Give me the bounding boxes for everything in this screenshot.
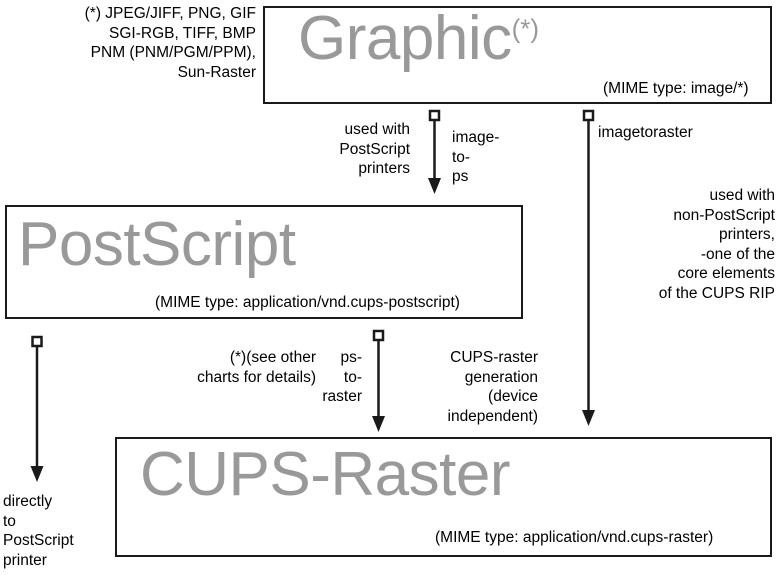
filter-label-pstoraster: ps- to- raster	[300, 348, 362, 407]
edge-note-non-postscript-printers: used with non-PostScript printers, -one …	[598, 186, 775, 303]
diagram-canvas: (*) JPEG/JIFF, PNG, GIF SGI-RGB, TIFF, B…	[0, 0, 780, 575]
graphic-box-title: Graphic(*)	[298, 8, 539, 70]
cups-raster-title-text: CUPS-Raster	[140, 440, 510, 509]
graphic-box-mime: (MIME type: image/*)	[603, 80, 749, 98]
edge-note-cups-raster-generation: CUPS-raster generation (device independe…	[398, 348, 538, 426]
arrow-graphic-to-postscript	[424, 110, 448, 196]
filter-label-imagetops: image- to- ps	[452, 128, 532, 187]
edge-note-directly-to-postscript-printer: directly to PostScript printer	[3, 492, 103, 570]
cups-raster-box-title: CUPS-Raster	[140, 444, 510, 506]
postscript-title-text: PostScript	[18, 210, 296, 279]
graphic-formats-legend: (*) JPEG/JIFF, PNG, GIF SGI-RGB, TIFF, B…	[38, 4, 256, 82]
cups-raster-box-mime: (MIME type: application/vnd.cups-raster)	[435, 529, 713, 547]
postscript-box-title: PostScript	[18, 214, 296, 276]
edge-note-used-with-postscript-printers: used with PostScript printers	[288, 120, 410, 179]
edge-note-see-other-charts: (*)(see other charts for details)	[128, 348, 316, 387]
arrow-postscript-direct-to-printer	[30, 336, 54, 484]
arrow-postscript-to-cupsraster	[368, 330, 392, 434]
filter-label-imagetoraster: imagetoraster	[598, 123, 778, 143]
postscript-box-mime: (MIME type: application/vnd.cups-postscr…	[155, 294, 460, 312]
graphic-title-text: Graphic	[298, 4, 512, 73]
graphic-title-superscript: (*)	[512, 13, 539, 43]
